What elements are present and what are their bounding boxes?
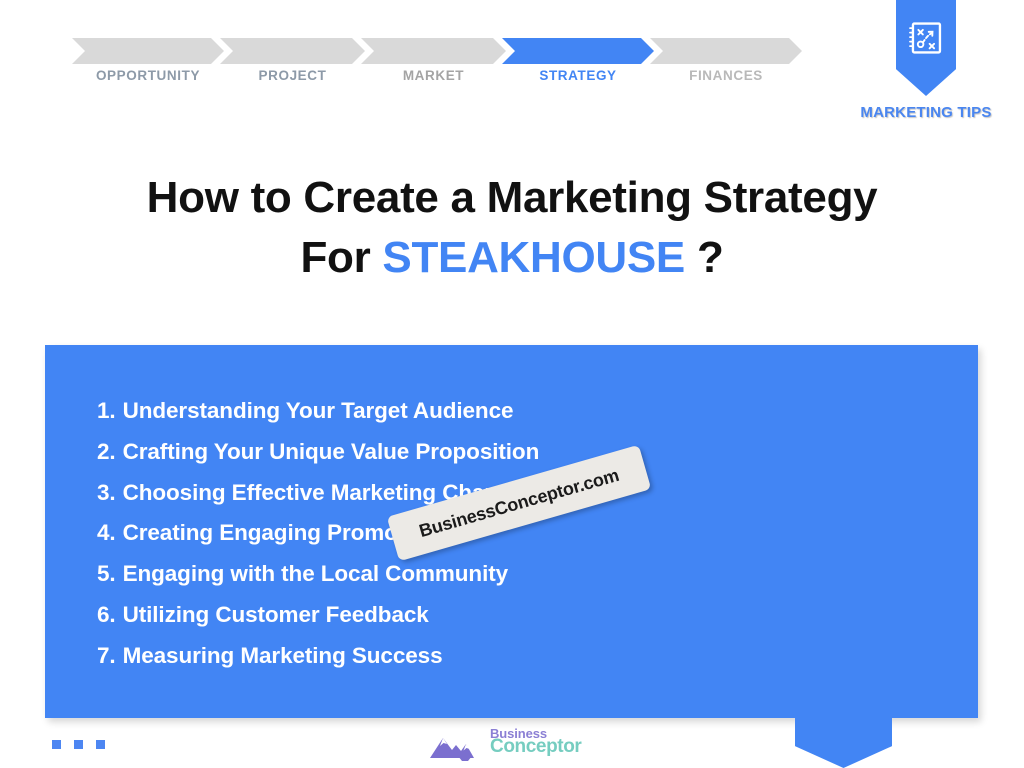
process-step-strategy[interactable]: STRATEGY: [502, 38, 654, 64]
process-step-finances[interactable]: FINANCES: [650, 38, 802, 64]
list-item-number: 2.: [97, 439, 116, 464]
footer-logo-line-2: Conceptor: [490, 737, 581, 756]
page-title-business-type: STEAKHOUSE: [382, 233, 685, 282]
dot-icon: [52, 740, 61, 749]
list-item-text: Utilizing Customer Feedback: [123, 602, 429, 627]
list-item-text: Engaging with the Local Community: [123, 561, 508, 586]
list-item-number: 5.: [97, 561, 116, 586]
page-title-suffix: ?: [697, 233, 724, 282]
marketing-tips-label: MARKETING TIPS: [850, 104, 1002, 121]
list-item-text: Understanding Your Target Audience: [123, 398, 514, 423]
steps-panel: 1.Understanding Your Target Audience 2.C…: [45, 345, 978, 718]
process-step-label: OPPORTUNITY: [72, 68, 224, 83]
footer-logo: Business Conceptor: [428, 726, 596, 764]
chevron-shape: [72, 38, 224, 64]
page-title: How to Create a Marketing Strategy For S…: [60, 168, 964, 288]
process-step-label: MARKET: [361, 68, 506, 83]
down-arrow-banner-icon: [795, 716, 892, 768]
process-step-market[interactable]: MARKET: [361, 38, 506, 64]
marketing-tips-badge: MARKETING TIPS: [896, 0, 956, 96]
list-item-number: 6.: [97, 602, 116, 627]
list-item-text: Measuring Marketing Success: [123, 643, 443, 668]
chevron-shape: [650, 38, 802, 64]
process-step-project[interactable]: PROJECT: [220, 38, 365, 64]
page-title-line-2: For STEAKHOUSE ?: [60, 228, 964, 288]
list-item-number: 7.: [97, 643, 116, 668]
list-item-number: 3.: [97, 480, 116, 505]
list-item-number: 1.: [97, 398, 116, 423]
process-step-label: PROJECT: [220, 68, 365, 83]
list-item-text: Crafting Your Unique Value Proposition: [123, 439, 540, 464]
strategy-playbook-icon: [908, 20, 944, 56]
decorative-dots: [52, 740, 105, 749]
process-step-bar: OPPORTUNITY PROJECT MARKET STRATEGY FINA…: [72, 38, 862, 94]
process-step-label: STRATEGY: [502, 68, 654, 83]
page-title-prefix: For: [300, 233, 370, 282]
list-item: 7.Measuring Marketing Success: [97, 636, 543, 677]
list-item: 2.Crafting Your Unique Value Proposition: [97, 432, 543, 473]
process-step-opportunity[interactable]: OPPORTUNITY: [72, 38, 224, 64]
list-item-number: 4.: [97, 520, 116, 545]
chevron-shape: [361, 38, 506, 64]
chevron-shape-active: [502, 38, 654, 64]
process-step-label: FINANCES: [650, 68, 802, 83]
list-item: 1.Understanding Your Target Audience: [97, 391, 543, 432]
footer-logo-wordmark: Business Conceptor: [490, 727, 581, 756]
dot-icon: [96, 740, 105, 749]
list-item: 5.Engaging with the Local Community: [97, 554, 543, 595]
mountain-icon: [428, 730, 488, 764]
dot-icon: [74, 740, 83, 749]
list-item: 6.Utilizing Customer Feedback: [97, 595, 543, 636]
chevron-shape: [220, 38, 365, 64]
page-title-line-1: How to Create a Marketing Strategy: [60, 168, 964, 228]
